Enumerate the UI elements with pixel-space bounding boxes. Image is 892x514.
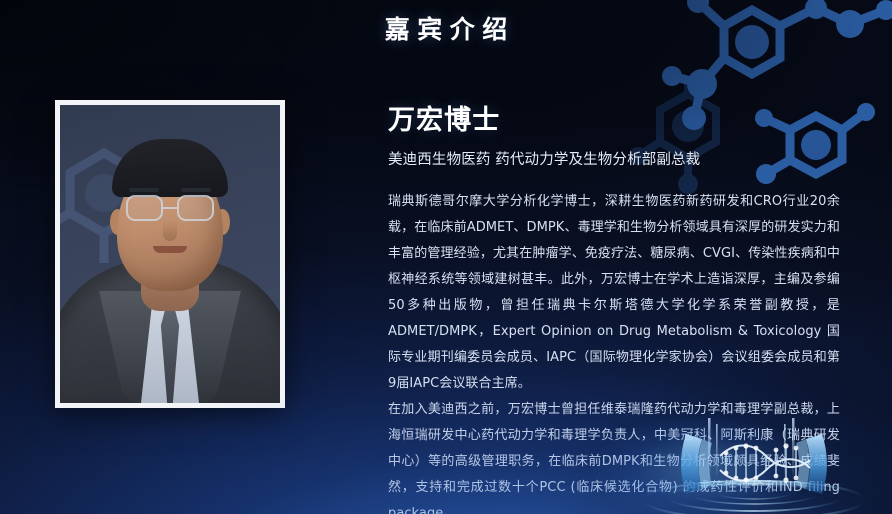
speaker-role: 美迪西生物医药 药代动力学及生物分析部副总裁	[388, 150, 840, 170]
eyeglasses-bridge	[163, 207, 177, 209]
eyeglasses-left-lens	[126, 195, 163, 221]
bio-paragraph: 在加入美迪西之前，万宏博士曾担任维泰瑞隆药代动力学和毒理学副总裁，上海恒瑞研发中…	[388, 397, 840, 514]
speaker-photo	[60, 105, 280, 403]
eyeglasses-right-lens	[177, 195, 214, 221]
eyebrow-right	[181, 188, 211, 192]
speaker-bio: 瑞典斯德哥尔摩大学分析化学博士，深耕生物医药新药研发和CRO行业20余载，在临床…	[388, 189, 840, 514]
speaker-name: 万宏博士	[388, 104, 840, 138]
eyebrow-left	[129, 188, 159, 192]
speaker-info-panel: 万宏博士 美迪西生物医药 药代动力学及生物分析部副总裁 瑞典斯德哥尔摩大学分析化…	[388, 104, 840, 514]
page-title: 嘉宾介绍	[0, 10, 892, 46]
mouth	[153, 246, 187, 253]
nose	[163, 221, 177, 241]
bio-paragraph: 瑞典斯德哥尔摩大学分析化学博士，深耕生物医药新药研发和CRO行业20余载，在临床…	[388, 189, 840, 397]
slide-stage: 嘉宾介绍	[0, 0, 892, 514]
speaker-photo-frame	[55, 100, 285, 408]
